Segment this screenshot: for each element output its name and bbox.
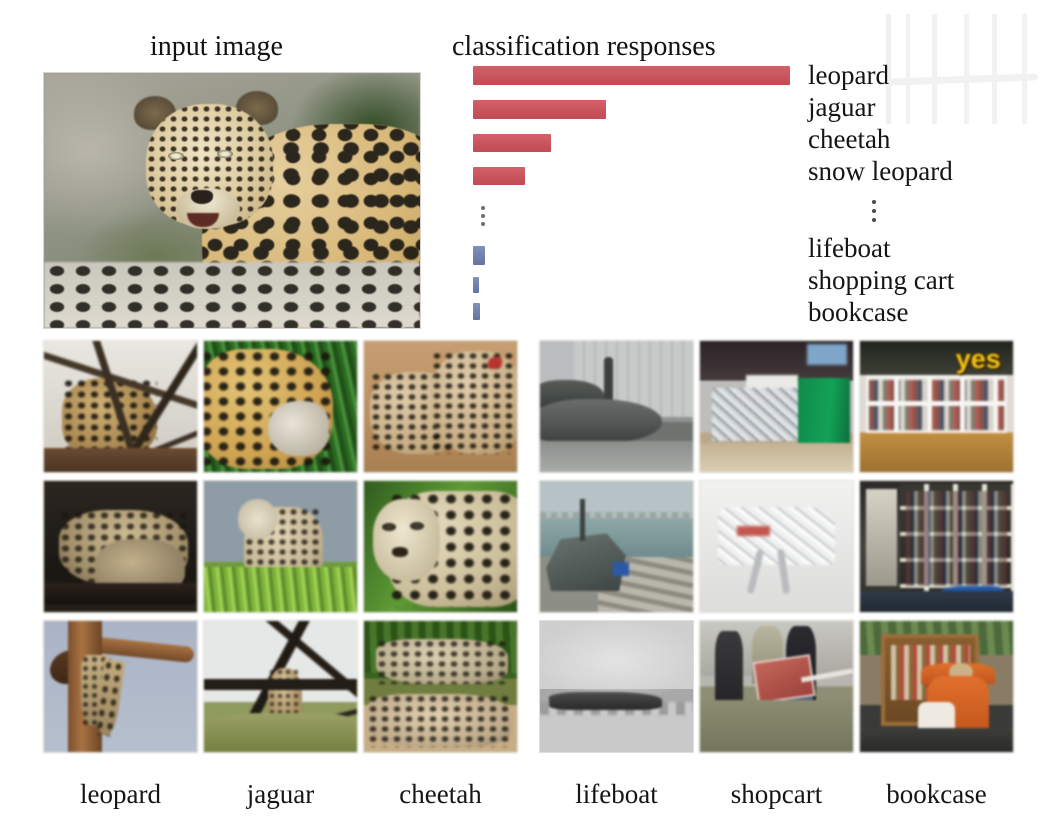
class-label-lifeboat: lifeboat <box>808 233 890 264</box>
bottom-label-jaguar: jaguar <box>204 779 357 810</box>
thumbnail-leopard-tail-on-tree-trunk <box>44 621 197 752</box>
thumbnail-person-in-orange-shirt-at-bookcase <box>860 621 1013 752</box>
thumbnail-grid-right: yes <box>540 341 1013 752</box>
grass-texture <box>204 567 357 612</box>
dark-horizontal-bar <box>204 679 357 691</box>
thumbnail-cheetahs-on-sand <box>364 341 517 472</box>
input-image-heading: input image <box>150 31 283 63</box>
class-label-bookcase: bookcase <box>808 297 908 328</box>
haze-overlay <box>540 621 693 752</box>
yes-caption-text: yes <box>956 344 1001 375</box>
class-label-cheetah: cheetah <box>808 124 890 155</box>
thumbnail-white-shopping-cart-overturned <box>700 481 853 612</box>
spot-texture <box>431 351 517 453</box>
branch-strip <box>44 583 197 604</box>
rock-ground <box>204 713 357 752</box>
thumbnail-cheetah-on-rock-bare-tree <box>204 621 357 752</box>
animal-face <box>268 401 329 456</box>
thumbnail-dark-submarine-boat-by-wall <box>540 341 693 472</box>
doorway <box>866 489 897 586</box>
photo-foreground-spots <box>44 262 420 328</box>
thumbnail-harbour-boat-at-dock <box>540 481 693 612</box>
shopping-cart-basket <box>718 507 834 565</box>
bottom-label-leopard: leopard <box>44 779 197 810</box>
animal-eye-right <box>410 522 424 530</box>
thumbnail-grid-left <box>44 341 517 752</box>
bar-bookcase <box>473 303 480 320</box>
thumbnail-cheetah-standing-in-grass <box>204 481 357 612</box>
ground-strip <box>700 700 853 752</box>
class-label-shopping-cart: shopping cart <box>808 265 954 296</box>
classification-response-bar-chart <box>473 66 813 316</box>
spot-texture <box>376 639 508 684</box>
ground-strip <box>44 448 197 472</box>
thumbnail-grayscale-water-with-boat <box>540 621 693 752</box>
spot-texture <box>367 694 511 746</box>
vertical-post <box>604 357 613 404</box>
animal-head <box>238 499 278 538</box>
class-label-jaguar: jaguar <box>808 92 875 123</box>
floor-strip <box>860 591 1013 612</box>
class-label-snow-leopard: snow leopard <box>808 156 953 187</box>
blue-detail <box>613 562 629 576</box>
bottom-label-cheetah: cheetah <box>364 779 517 810</box>
bottom-label-lifeboat: lifeboat <box>540 779 693 810</box>
classification-responses-heading: classification responses <box>452 31 716 63</box>
ground-strip <box>540 441 693 472</box>
wooden-floor <box>860 433 1013 472</box>
bar-cheetah <box>473 134 551 152</box>
input-image-photo <box>44 73 420 328</box>
boat-hull <box>540 399 662 444</box>
thumbnail-tall-bookcase-interior <box>860 481 1013 612</box>
bar-lifeboat <box>473 246 485 265</box>
red-marker <box>488 357 502 369</box>
animal-shape-1 <box>376 639 508 684</box>
class-label-leopard: leopard <box>808 60 889 91</box>
thumbnail-leopard-on-dark-branch <box>44 481 197 612</box>
red-handle-detail <box>737 526 771 536</box>
leopard-nose <box>191 190 213 204</box>
sky-patch <box>807 344 847 365</box>
thumbnail-white-bookcase-with-yes-caption: yes <box>860 341 1013 472</box>
ground-strip <box>860 728 1013 752</box>
bar-chart-ellipsis <box>481 206 485 230</box>
thumbnail-leopard-in-bare-tree <box>44 341 197 472</box>
bar-jaguar <box>473 100 606 119</box>
green-dumpster <box>798 378 850 451</box>
animal-shape-2 <box>431 351 517 453</box>
bar-snow-leopard <box>473 167 525 185</box>
cart-pile <box>712 388 810 440</box>
class-label-ellipsis <box>872 200 876 227</box>
bar-leopard <box>473 66 790 85</box>
animal-shape-2 <box>367 694 511 746</box>
shelf-grid <box>866 375 1007 435</box>
animal-head <box>373 499 440 580</box>
boat-mast <box>580 499 585 541</box>
bottom-label-shopcart: shopcart <box>700 779 853 810</box>
background-watermark <box>880 14 1050 124</box>
thumbnail-cheetah-face-closeup <box>364 481 517 612</box>
book-row <box>906 491 1007 585</box>
bar-shopping-cart <box>473 277 479 293</box>
leopard-eye-right <box>217 150 233 158</box>
thumbnail-people-carrying-red-shopping-cart <box>700 621 853 752</box>
bottom-label-bookcase: bookcase <box>860 779 1013 810</box>
animal-nose <box>392 547 408 557</box>
thumbnail-cheetahs-running-in-grass <box>364 621 517 752</box>
thumbnail-jaguar-in-green-grass <box>204 341 357 472</box>
distant-boat <box>549 692 662 710</box>
ground-strip <box>700 443 853 472</box>
thumbnail-shopping-carts-and-green-dumpster <box>700 341 853 472</box>
